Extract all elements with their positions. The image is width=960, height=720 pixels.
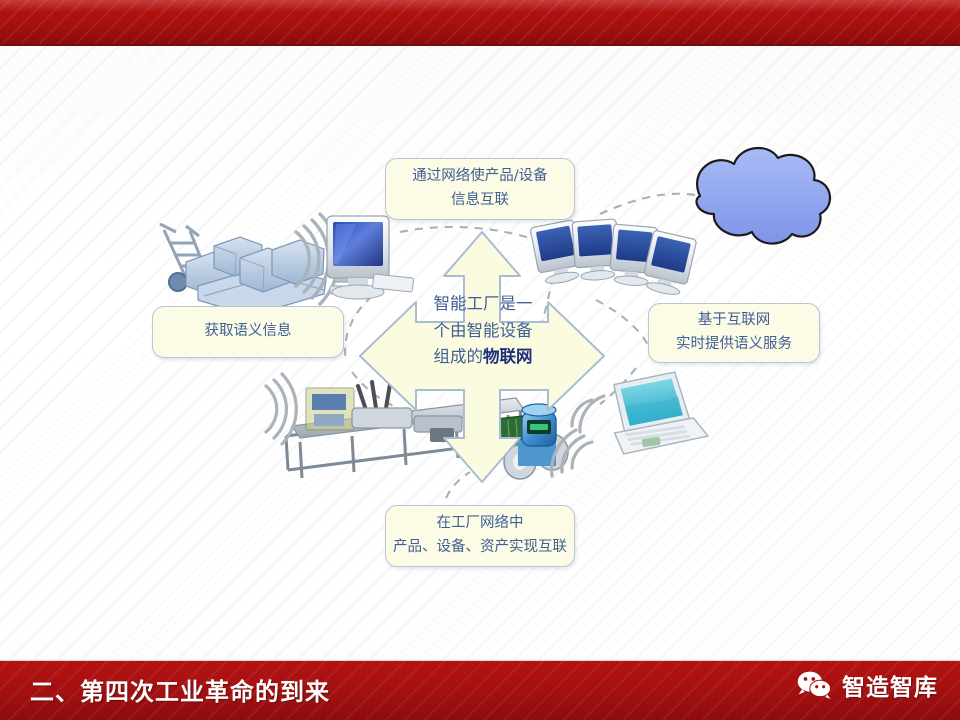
laptop-image	[607, 369, 708, 455]
callout-semantic-info[interactable]: 获取语义信息	[152, 306, 344, 358]
callout-factory-network[interactable]: 在工厂网络中 产品、设备、资产实现互联	[385, 505, 575, 567]
callout-bottom-line-1: 在工厂网络中	[437, 512, 524, 536]
callout-top-line-1: 通过网络使产品/设备	[412, 165, 547, 189]
center-statement: 智能工厂是一 个由智能设备 组成的物联网	[398, 278, 568, 384]
center-line-3-prefix: 组成的	[434, 347, 484, 366]
center-line-1: 智能工厂是一	[434, 291, 533, 318]
cloud-image	[696, 148, 830, 244]
callout-left-line-1: 获取语义信息	[205, 320, 292, 344]
section-title: 二、第四次工业革命的到来	[30, 672, 330, 707]
slide-canvas: 智能工厂是一 个由智能设备 组成的物联网 通过网络使产品/设备 信息互联 获取语…	[0, 0, 960, 720]
brand-watermark: 智造智库	[796, 668, 938, 702]
wechat-icon	[796, 670, 834, 700]
brand-name: 智造智库	[842, 668, 938, 702]
callout-bottom-line-2: 产品、设备、资产实现互联	[393, 536, 567, 560]
wireless-signal-waves-line	[266, 374, 296, 444]
center-line-3: 组成的物联网	[434, 344, 533, 371]
callout-top-line-2: 信息互联	[451, 189, 509, 213]
callout-right-line-2: 实时提供语义服务	[676, 333, 792, 357]
center-line-3-highlight: 物联网	[483, 347, 533, 366]
center-line-2: 个由智能设备	[434, 318, 533, 345]
callout-network-products[interactable]: 通过网络使产品/设备 信息互联	[385, 158, 575, 220]
callout-right-line-1: 基于互联网	[698, 309, 771, 333]
callout-internet-service[interactable]: 基于互联网 实时提供语义服务	[648, 303, 820, 363]
